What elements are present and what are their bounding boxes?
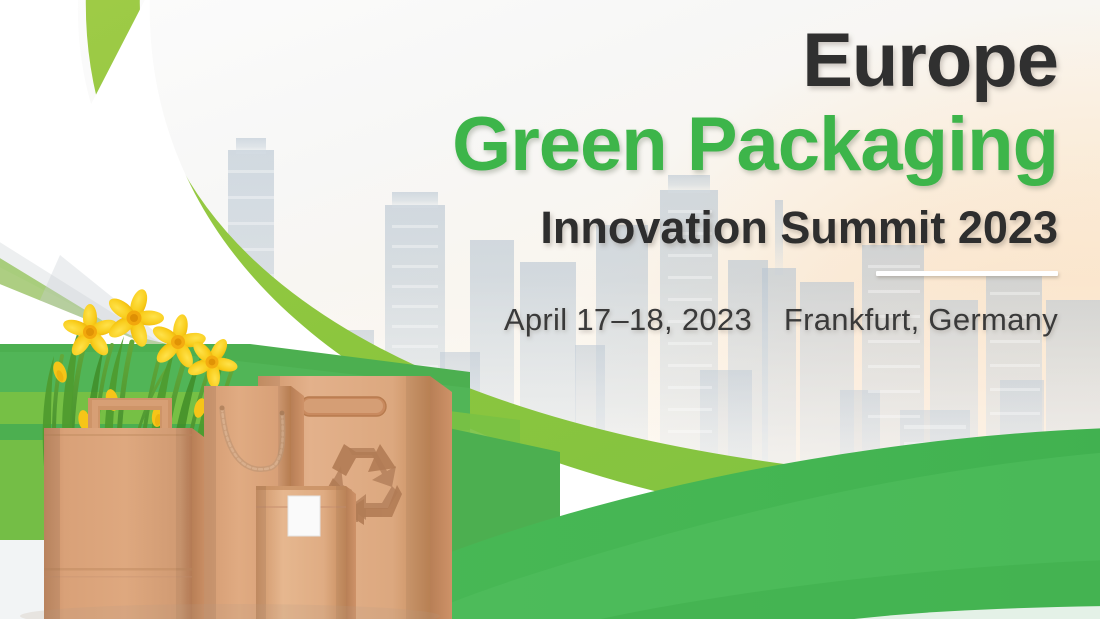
divider-rule	[876, 271, 1058, 276]
event-dates: April 17–18, 2023	[504, 302, 752, 337]
headline-top: Europe	[358, 22, 1058, 100]
event-location: Frankfurt, Germany	[784, 302, 1058, 337]
small-sealed-pouch	[256, 486, 356, 619]
event-banner: Europe Green Packaging Innovation Summit…	[0, 0, 1100, 619]
large-kraft-shopping-bag	[44, 398, 208, 619]
headline-main: Green Packaging	[358, 102, 1058, 187]
subheadline: Innovation Summit 2023	[358, 201, 1058, 255]
divider-wrap	[358, 271, 1058, 276]
event-meta: April 17–18, 2023 Frankfurt, Germany	[358, 302, 1058, 338]
banner-text-block: Europe Green Packaging Innovation Summit…	[358, 22, 1058, 338]
pouch-label	[288, 496, 320, 536]
